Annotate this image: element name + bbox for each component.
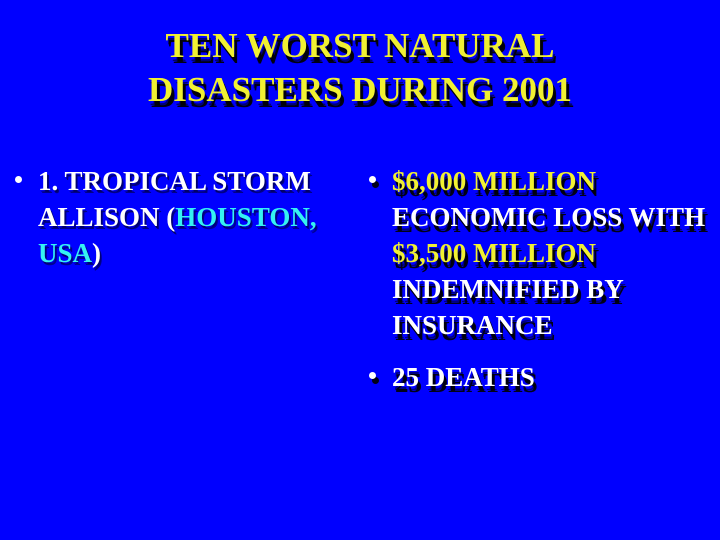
bullet-text: $6,000 MILLION ECONOMIC LOSS WITH $3,500… — [392, 163, 714, 343]
bullet-text: 1. TROPICAL STORM ALLISON (HOUSTON, USA) — [38, 163, 358, 271]
right-content-column: $6,000 MILLION ECONOMIC LOSS WITH $3,500… — [364, 163, 714, 411]
economic-loss-label: ECONOMIC LOSS WITH — [392, 202, 705, 232]
paren-open: ( — [166, 202, 175, 232]
economic-loss-amount: $6,000 MILLION — [392, 166, 596, 196]
slide-title: TEN WORST NATURAL DISASTERS DURING 2001 — [36, 24, 684, 112]
title-line-1: TEN WORST NATURAL — [36, 24, 684, 68]
list-item: $6,000 MILLION ECONOMIC LOSS WITH $3,500… — [364, 163, 714, 343]
list-item: 1. TROPICAL STORM ALLISON (HOUSTON, USA) — [10, 163, 358, 271]
insured-label: INDEMNIFIED BY INSURANCE — [392, 274, 623, 340]
title-line-2: DISASTERS DURING 2001 — [36, 68, 684, 112]
presentation-slide: TEN WORST NATURAL DISASTERS DURING 2001 … — [0, 0, 720, 540]
bullet-dot-icon — [369, 372, 376, 379]
bullet-text: 25 DEATHS — [392, 359, 714, 395]
left-content-column: 1. TROPICAL STORM ALLISON (HOUSTON, USA) — [10, 163, 358, 281]
insured-amount: $3,500 MILLION — [392, 238, 596, 268]
paren-close: ) — [92, 238, 101, 268]
bullet-dot-icon — [369, 176, 376, 183]
list-item: 25 DEATHS — [364, 359, 714, 395]
bullet-dot-icon — [15, 176, 22, 183]
death-toll: 25 DEATHS — [392, 362, 535, 392]
